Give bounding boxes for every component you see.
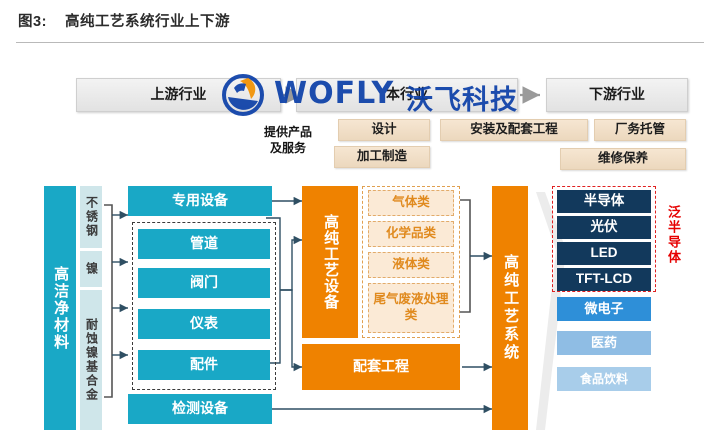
service-item-design[interactable]: 设计 (338, 119, 430, 141)
downstream-food-beverage[interactable]: 食品饮料 (557, 367, 651, 391)
downstream-tft-lcd[interactable]: TFT-LCD (557, 268, 651, 291)
component-pipe[interactable]: 管道 (138, 229, 270, 259)
service-label: 安装及配套工程 (470, 123, 558, 137)
header-downstream-label: 下游行业 (589, 87, 645, 102)
material-corrosion-resistant-nickel-alloy[interactable]: 耐蚀镍基合金 (80, 290, 102, 430)
service-item-maintenance[interactable]: 维修保养 (560, 148, 686, 170)
page-title: 图3: 高纯工艺系统行业上下游 (18, 10, 230, 31)
wofly-circle-logo-icon (218, 72, 272, 118)
service-item-manufacturing[interactable]: 加工制造 (334, 146, 430, 168)
service-label: 设计 (371, 123, 396, 137)
downstream-photovoltaic[interactable]: 光伏 (557, 216, 651, 239)
service-label: 厂务托管 (615, 123, 665, 137)
downstream-label: 半导体 (584, 194, 625, 209)
service-label: 加工制造 (357, 150, 407, 164)
process-equipment-label: 高纯工艺设备 (322, 214, 338, 310)
component-label: 阀门 (190, 275, 218, 290)
process-equipment-group[interactable]: 高纯工艺设备 (302, 186, 358, 338)
component-label: 管道 (190, 236, 218, 251)
watermark-brand-cn: 沃飞科技 (406, 78, 518, 117)
category-label: 化学品类 (386, 227, 436, 241)
downstream-label: LED (591, 246, 618, 261)
component-accessory[interactable]: 配件 (138, 350, 270, 380)
supporting-project[interactable]: 配套工程 (302, 344, 460, 390)
equipment-special[interactable]: 专用设备 (128, 186, 272, 216)
equipment-label: 专用设备 (172, 193, 228, 208)
category-label: 尾气废液处理类 (369, 292, 453, 323)
header-downstream[interactable]: 下游行业 (546, 78, 688, 112)
downstream-label: 微电子 (584, 302, 623, 316)
figure-canvas: 图3: 高纯工艺系统行业上下游 (0, 0, 720, 448)
service-item-facility-management[interactable]: 厂务托管 (594, 119, 686, 141)
material-group-label: 高洁净材料 (52, 266, 68, 351)
high-purity-process-system[interactable]: 高纯工艺系统 (492, 186, 528, 430)
category-liquid[interactable]: 液体类 (368, 252, 454, 278)
category-label: 液体类 (392, 258, 430, 272)
pan-semiconductor-label: 泛半导体 (664, 205, 683, 265)
component-valve[interactable]: 阀门 (138, 268, 270, 298)
watermark-brand: WOFLY (274, 76, 394, 111)
component-instrument[interactable]: 仪表 (138, 309, 270, 339)
material-label: 不锈钢 (85, 196, 98, 238)
component-label: 配件 (190, 357, 218, 372)
service-item-installation[interactable]: 安装及配套工程 (440, 119, 588, 141)
figure-label: 图3: (18, 14, 47, 30)
header-upstream-label: 上游行业 (151, 87, 207, 102)
equipment-testing[interactable]: 检测设备 (128, 394, 272, 424)
category-chemical[interactable]: 化学品类 (368, 221, 454, 247)
category-gas[interactable]: 气体类 (368, 190, 454, 216)
material-label: 镍 (85, 262, 98, 276)
downstream-led[interactable]: LED (557, 242, 651, 265)
downstream-microelectronics[interactable]: 微电子 (557, 297, 651, 321)
title-divider (16, 42, 704, 43)
category-label: 气体类 (392, 196, 430, 210)
watermark: WOFLY 沃飞科技 (218, 72, 548, 118)
services-caption: 提供产品 及服务 (250, 124, 326, 156)
downstream-label: 医药 (591, 336, 617, 350)
material-nickel[interactable]: 镍 (80, 251, 102, 287)
services-caption-line1: 提供产品 (250, 124, 326, 140)
downstream-label: TFT-LCD (576, 272, 632, 287)
downstream-label: 食品饮料 (580, 373, 628, 386)
material-stainless-steel[interactable]: 不锈钢 (80, 186, 102, 248)
equipment-label: 检测设备 (172, 401, 228, 416)
service-label: 维修保养 (598, 152, 648, 166)
component-label: 仪表 (190, 316, 218, 331)
downstream-pharmaceutical[interactable]: 医药 (557, 331, 651, 355)
figure-title-text: 高纯工艺系统行业上下游 (65, 14, 230, 30)
downstream-label: 光伏 (591, 220, 618, 235)
category-exhaust-waste-treatment[interactable]: 尾气废液处理类 (368, 283, 454, 333)
supporting-project-label: 配套工程 (353, 359, 409, 374)
system-label: 高纯工艺系统 (502, 254, 518, 362)
material-group-high-purity[interactable]: 高洁净材料 (44, 186, 76, 430)
material-label: 耐蚀镍基合金 (85, 318, 98, 402)
downstream-semiconductor[interactable]: 半导体 (557, 190, 651, 213)
services-caption-line2: 及服务 (250, 140, 326, 156)
